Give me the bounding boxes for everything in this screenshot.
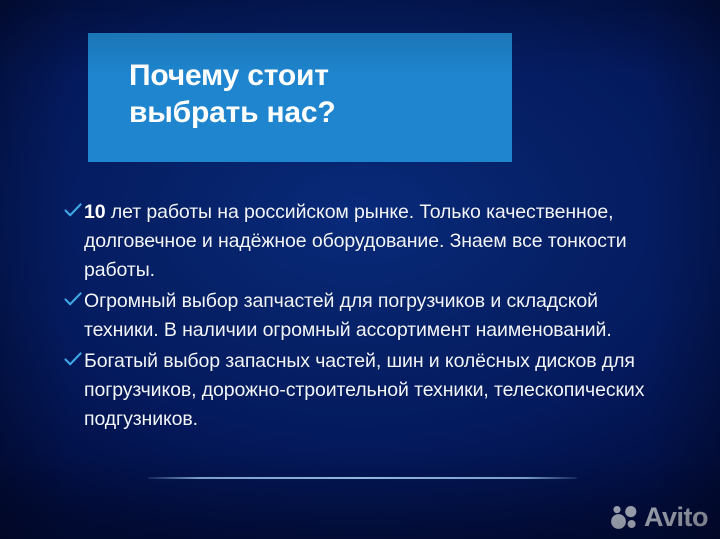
title-line-2: выбрать нас? [129,94,512,131]
list-item-body: Огромный выбор запчастей для погрузчиков… [84,290,612,341]
check-icon [62,348,84,377]
list-item-text: Богатый выбор запасных частей, шин и кол… [84,347,677,434]
check-icon [62,199,84,228]
list-item-body: Богатый выбор запасных частей, шин и кол… [84,350,644,430]
list-item: Богатый выбор запасных частей, шин и кол… [62,347,677,434]
avito-wordmark: Avito [644,504,708,531]
check-icon [62,288,84,317]
list-item-text: 10 лет работы на российском рынке. Тольк… [84,198,677,285]
divider [148,477,577,479]
list-item: 10 лет работы на российском рынке. Тольк… [62,198,677,285]
title-line-1: Почему стоит [129,57,512,94]
avito-watermark: Avito [610,504,708,531]
list-item-body: лет работы на российском рынке. Только к… [84,201,627,281]
list-item: Огромный выбор запчастей для погрузчиков… [62,287,677,345]
title-banner: Почему стоит выбрать нас? [88,33,512,162]
benefits-list: 10 лет работы на российском рынке. Тольк… [62,198,677,436]
list-item-lead: 10 [84,201,106,223]
slide-canvas: Почему стоит выбрать нас? 10 лет работы … [0,0,720,539]
list-item-text: Огромный выбор запчастей для погрузчиков… [84,287,677,345]
avito-dots-icon [610,505,640,531]
